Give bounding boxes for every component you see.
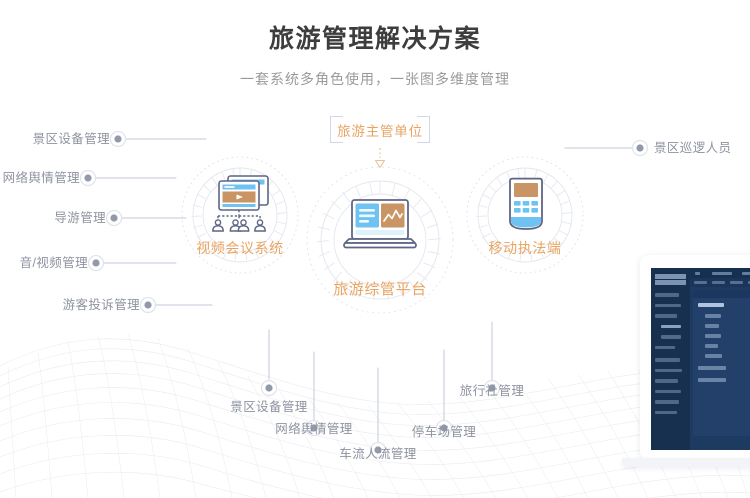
dashboard-screen [651, 268, 750, 450]
leaf-label-right-1[interactable]: 景区巡逻人员 [654, 140, 731, 156]
node-label-mobile-enforcement: 移动执法端 [465, 238, 585, 258]
leader-dot [141, 298, 156, 313]
laptop-base [622, 458, 750, 467]
leaf-label-bottom-3[interactable]: 车流人流管理 [338, 446, 418, 462]
page-header: 旅游管理解决方案 一套系统多角色使用，一张图多维度管理 [0, 22, 750, 90]
leaf-label-left-2[interactable]: 网络舆情管理 [0, 170, 80, 186]
leader-dot [89, 256, 104, 271]
leaf-label-left-1[interactable]: 景区设备管理 [0, 131, 110, 147]
leader-dot [633, 141, 648, 156]
dashboard-tree-panel [693, 290, 750, 436]
page-subtitle: 一套系统多角色使用，一张图多维度管理 [0, 68, 750, 90]
infographic-stage: 旅游管理解决方案 一套系统多角色使用，一张图多维度管理 [0, 0, 750, 498]
authority-down-arrow [374, 148, 386, 170]
laptop-dashboard-mockup [640, 255, 750, 485]
background-mesh-decoration [0, 308, 750, 498]
authority-label: 旅游主管单位 [330, 116, 430, 143]
leader-dot [107, 211, 122, 226]
leaf-label-left-5[interactable]: 游客投诉管理 [0, 297, 140, 313]
leader-dot [111, 132, 126, 147]
leaf-label-bottom-4[interactable]: 停车场管理 [404, 424, 484, 440]
mobile-device-icon [504, 177, 548, 240]
leaf-label-left-4[interactable]: 音/视频管理 [0, 255, 88, 271]
node-video-conference[interactable]: 视频会议系统 [180, 155, 300, 275]
dashboard-sidebar [651, 268, 690, 450]
leaf-label-bottom-1[interactable]: 景区设备管理 [229, 399, 309, 415]
dashboard-topbar [690, 268, 750, 278]
node-label-video-conference: 视频会议系统 [180, 238, 300, 258]
dashboard-logo [655, 274, 686, 285]
leader-dot [262, 381, 277, 396]
dashboard-filter-bar [690, 278, 750, 287]
video-conference-icon [204, 173, 276, 240]
page-title: 旅游管理解决方案 [0, 22, 750, 56]
node-mobile-enforcement[interactable]: 移动执法端 [465, 155, 585, 275]
leaf-label-bottom-5[interactable]: 旅行社管理 [452, 383, 532, 399]
authority-badge: 旅游主管单位 [330, 116, 430, 143]
dashboard-main [690, 268, 750, 450]
laptop-platform-icon [338, 198, 422, 261]
node-tourism-platform[interactable]: 旅游综管平台 [305, 165, 455, 315]
leader-dot [81, 171, 96, 186]
node-label-tourism-platform: 旅游综管平台 [305, 278, 455, 299]
leaf-label-left-3[interactable]: 导游管理 [0, 210, 106, 226]
leaf-label-bottom-2[interactable]: 网络舆情管理 [274, 421, 354, 437]
